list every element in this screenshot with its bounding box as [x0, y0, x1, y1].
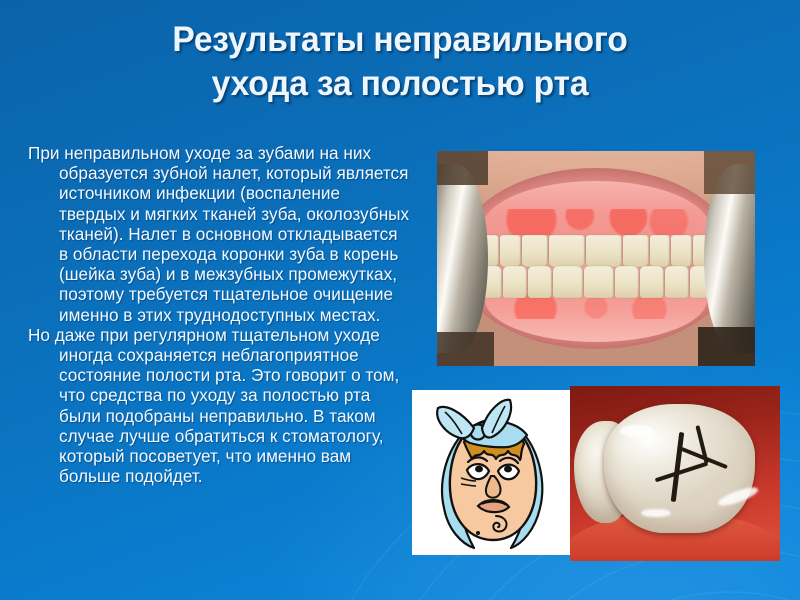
photo-corner-shadow — [698, 327, 755, 366]
photo-upper-teeth-row — [478, 235, 713, 267]
photo-corner-shadow — [704, 151, 755, 194]
photo-corner-shadow — [437, 151, 488, 185]
body-paragraph-2: Но даже при регулярном тщательном уходе … — [28, 325, 410, 487]
photo-enamel-highlight — [641, 509, 670, 518]
presentation-slide: Результаты неправильного ухода за полост… — [0, 0, 800, 600]
slide-body-text: При неправильном уходе за зубами на них … — [28, 143, 410, 486]
intraoral-teeth-photo — [437, 151, 755, 366]
photo-corner-shadow — [437, 332, 494, 366]
body-paragraph-1: При неправильном уходе за зубами на них … — [28, 143, 410, 325]
photo-enamel-highlight — [620, 425, 654, 437]
molar-caries-photo — [570, 386, 780, 561]
slide-title: Результаты неправильного ухода за полост… — [54, 18, 745, 106]
photo-lower-teeth-row — [478, 266, 713, 298]
cartoon-toothache-face — [412, 390, 574, 555]
